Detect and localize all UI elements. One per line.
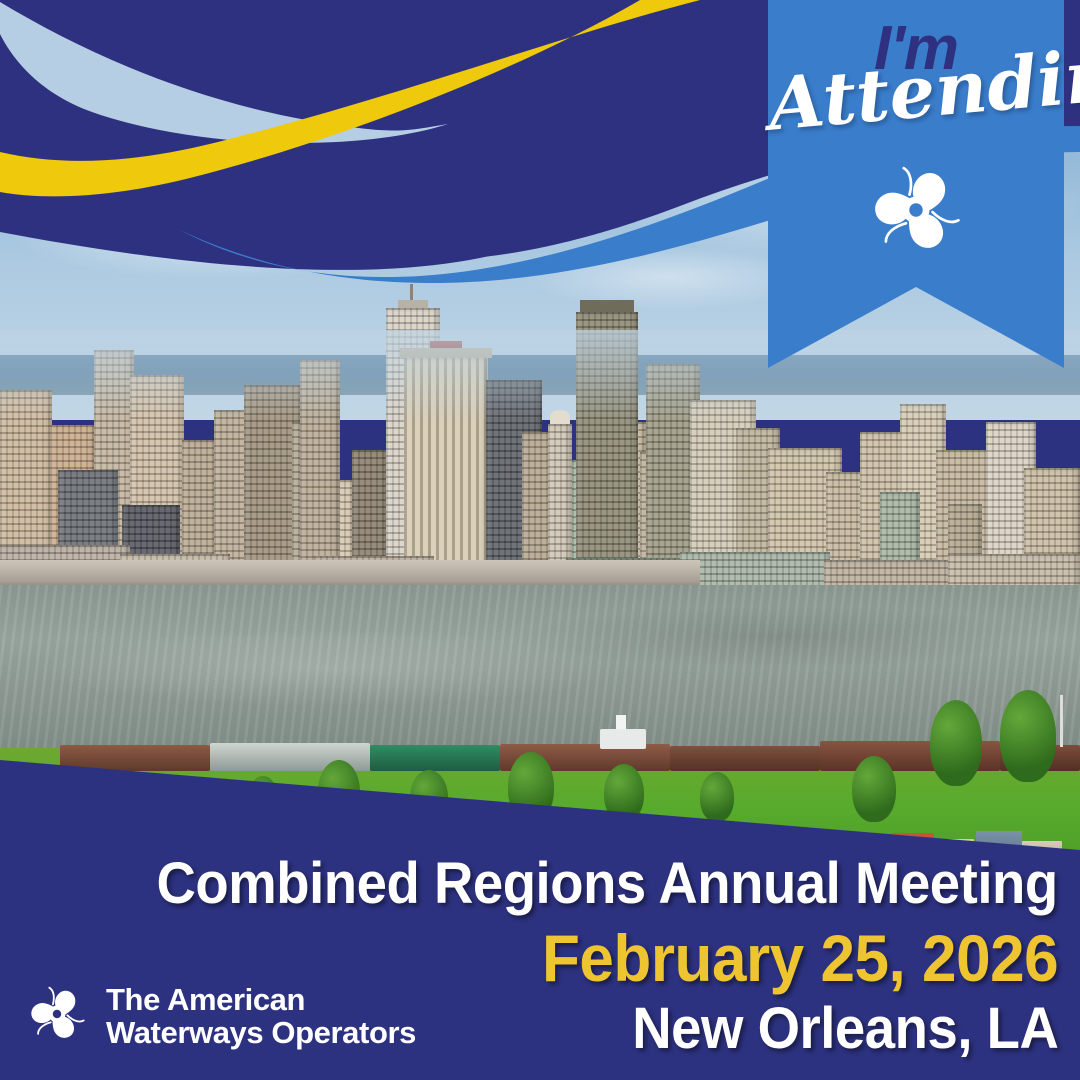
- event-date: February 25, 2026: [542, 925, 1058, 991]
- awo-wordmark-line1: The American: [106, 984, 416, 1017]
- barge-tow: [60, 715, 1080, 771]
- promo-poster: I'm Attending Combined Regions Annual: [0, 0, 1080, 1080]
- downtown-skyline: [0, 280, 1080, 600]
- event-title: Combined Regions Annual Meeting: [157, 855, 1058, 913]
- propeller-icon: [18, 975, 96, 1058]
- awo-logo: The American Waterways Operators: [18, 975, 416, 1058]
- event-location: New Orleans, LA: [632, 1000, 1058, 1058]
- awo-wordmark: The American Waterways Operators: [106, 984, 416, 1050]
- awo-wordmark-line2: Waterways Operators: [106, 1017, 416, 1050]
